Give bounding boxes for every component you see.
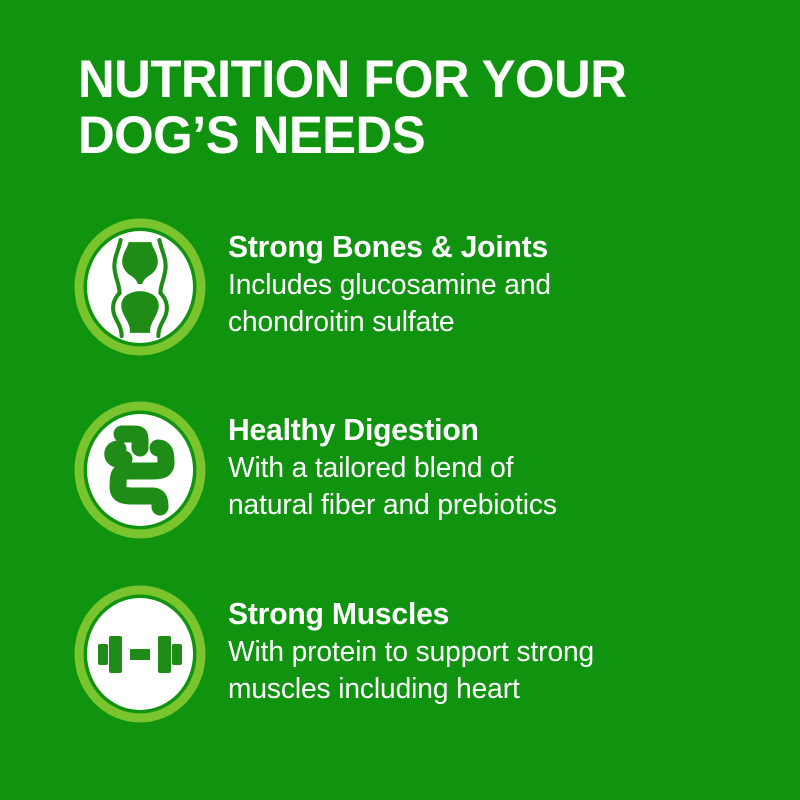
benefit-description: With protein to support strong muscles i… [228, 634, 783, 709]
benefit-copy: Strong Bones & Joints Includes glucosami… [228, 218, 800, 342]
benefit-title: Healthy Digestion [228, 413, 783, 448]
bone-joint-badge [74, 218, 206, 356]
benefits-list: Strong Bones & Joints Includes glucosami… [0, 218, 800, 767]
benefit-copy: Healthy Digestion With a tailored blend … [228, 401, 800, 525]
benefit-row: Healthy Digestion With a tailored blend … [0, 401, 800, 583]
benefit-row: Strong Bones & Joints Includes glucosami… [0, 218, 800, 400]
nutrition-benefits-panel: NUTRITION FOR YOUR DOG’S NEEDS [0, 0, 800, 800]
dumbbell-icon [74, 585, 206, 723]
benefit-title: Strong Bones & Joints [228, 230, 783, 265]
benefit-title: Strong Muscles [228, 597, 783, 632]
benefit-copy: Strong Muscles With protein to support s… [228, 585, 800, 709]
intestine-icon [74, 401, 206, 539]
benefit-description: Includes glucosamine and chondroitin sul… [228, 267, 783, 342]
benefit-description: With a tailored blend of natural fiber a… [228, 450, 783, 525]
page-title: NUTRITION FOR YOUR DOG’S NEEDS [78, 52, 712, 164]
dumbbell-badge [74, 585, 206, 723]
intestine-badge [74, 401, 206, 539]
bone-joint-icon [74, 218, 206, 356]
benefit-row: Strong Muscles With protein to support s… [0, 585, 800, 767]
